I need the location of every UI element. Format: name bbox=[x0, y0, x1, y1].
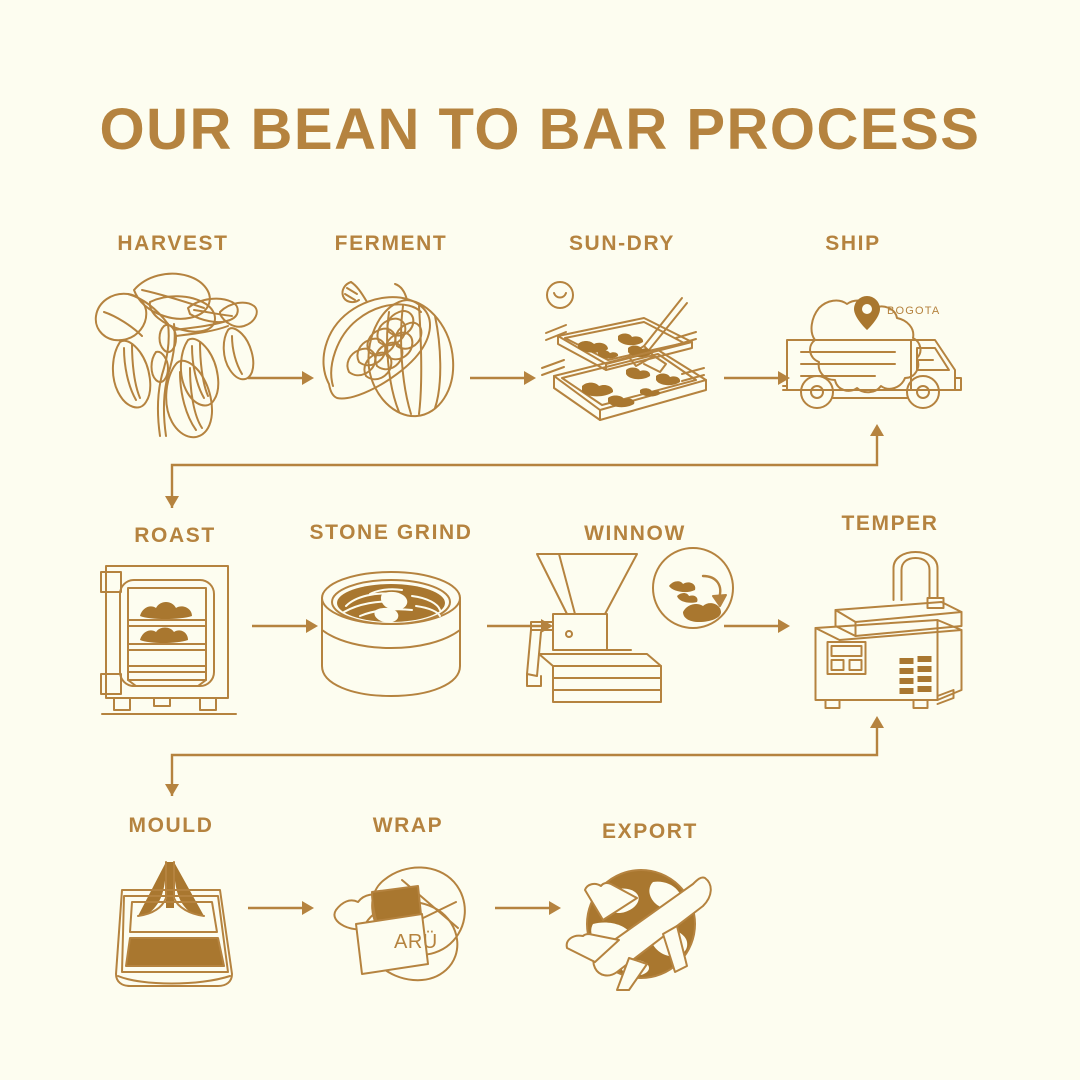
step-label-ship: SHIP bbox=[825, 232, 880, 256]
tempering-machine-icon bbox=[806, 548, 971, 710]
delivery-truck-icon: BOGOTA bbox=[783, 278, 963, 428]
wrapped-bar-icon: ARÜ bbox=[328, 862, 488, 992]
step-label-sun-dry: SUN-DRY bbox=[569, 232, 675, 256]
map-city-label: BOGOTA bbox=[887, 305, 940, 317]
arrow-ferment-to-sundry bbox=[470, 368, 536, 388]
wrapper-brand-label: ARÜ bbox=[394, 931, 438, 953]
melanger-bowl-icon bbox=[316, 566, 466, 701]
step-label-harvest: HARVEST bbox=[117, 232, 228, 256]
step-label-temper: TEMPER bbox=[841, 512, 938, 536]
step-label-mould: MOULD bbox=[129, 814, 214, 838]
infographic-canvas: OUR BEAN TO BAR PROCESS HARVEST FERMENT … bbox=[0, 0, 1080, 1080]
step-label-roast: ROAST bbox=[134, 524, 216, 548]
roaster-oven-icon bbox=[100, 558, 246, 716]
arrow-wrap-to-export bbox=[495, 898, 561, 918]
step-label-wrap: WRAP bbox=[373, 814, 444, 838]
connector-row2-to-row3 bbox=[165, 716, 890, 796]
drying-trays-icon bbox=[532, 278, 712, 443]
arrow-winnow-to-temper bbox=[724, 616, 790, 636]
chocolate-mould-icon bbox=[108, 862, 238, 992]
arrow-mould-to-wrap bbox=[248, 898, 314, 918]
connector-row1-to-row2 bbox=[165, 424, 890, 508]
arrow-sundry-to-ship bbox=[724, 368, 790, 388]
step-label-winnow: WINNOW bbox=[584, 522, 686, 546]
cacao-pod-icon bbox=[311, 278, 471, 428]
page-title: OUR BEAN TO BAR PROCESS bbox=[0, 96, 1080, 163]
cacao-branch-icon bbox=[84, 268, 264, 438]
step-label-ferment: FERMENT bbox=[335, 232, 448, 256]
winnower-machine-icon bbox=[527, 546, 737, 704]
arrow-roast-to-grind bbox=[252, 616, 318, 636]
step-label-export: EXPORT bbox=[602, 820, 698, 844]
step-label-stone-grind: STONE GRIND bbox=[309, 521, 472, 545]
airplane-globe-icon bbox=[565, 862, 725, 992]
arrow-harvest-to-ferment bbox=[248, 368, 314, 388]
